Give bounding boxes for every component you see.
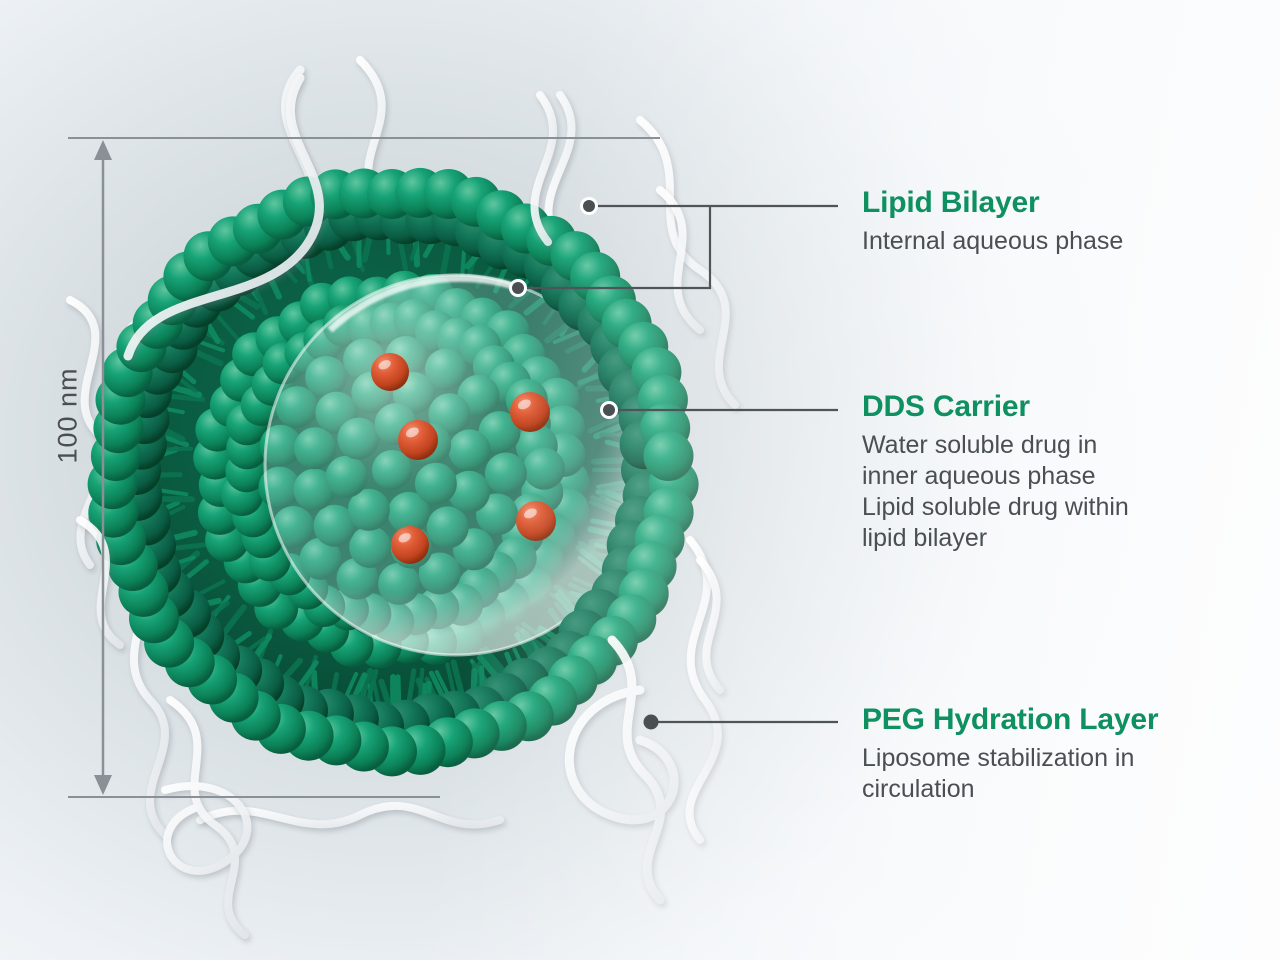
callout-body-line: circulation	[862, 774, 1158, 805]
dimension-label: 100 nm	[53, 356, 84, 476]
callout-body-line: Internal aqueous phase	[862, 226, 1123, 257]
leader-lipid-bilayer	[518, 206, 838, 288]
callout-body: Internal aqueous phase	[862, 226, 1123, 257]
diagram-canvas: 100 nm Lipid Bilayer Internal aqueous ph…	[0, 0, 1280, 960]
callout-peg-hydration-layer: PEG Hydration Layer Liposome stabilizati…	[862, 703, 1158, 805]
callout-body-line: lipid bilayer	[862, 523, 1129, 554]
callout-title: DDS Carrier	[862, 390, 1129, 424]
callout-body: Water soluble drug in inner aqueous phas…	[862, 430, 1129, 554]
callout-body: Liposome stabilization in circulation	[862, 743, 1158, 805]
dimension-arrow-up	[94, 140, 112, 160]
callout-body-line: Lipid soluble drug within	[862, 492, 1129, 523]
callout-list: Lipid Bilayer Internal aqueous phase DDS…	[862, 0, 1262, 960]
callout-lipid-bilayer: Lipid Bilayer Internal aqueous phase	[862, 186, 1123, 257]
callout-body-line: Liposome stabilization in	[862, 743, 1158, 774]
callout-title: Lipid Bilayer	[862, 186, 1123, 220]
callout-body-line: inner aqueous phase	[862, 461, 1129, 492]
callout-title: PEG Hydration Layer	[862, 703, 1158, 737]
marker-peg-hydration-layer	[644, 715, 659, 730]
callout-dds-carrier: DDS Carrier Water soluble drug in inner …	[862, 390, 1129, 554]
dimension-arrow-down	[94, 775, 112, 795]
callout-body-line: Water soluble drug in	[862, 430, 1129, 461]
dimension-guide	[68, 138, 660, 797]
